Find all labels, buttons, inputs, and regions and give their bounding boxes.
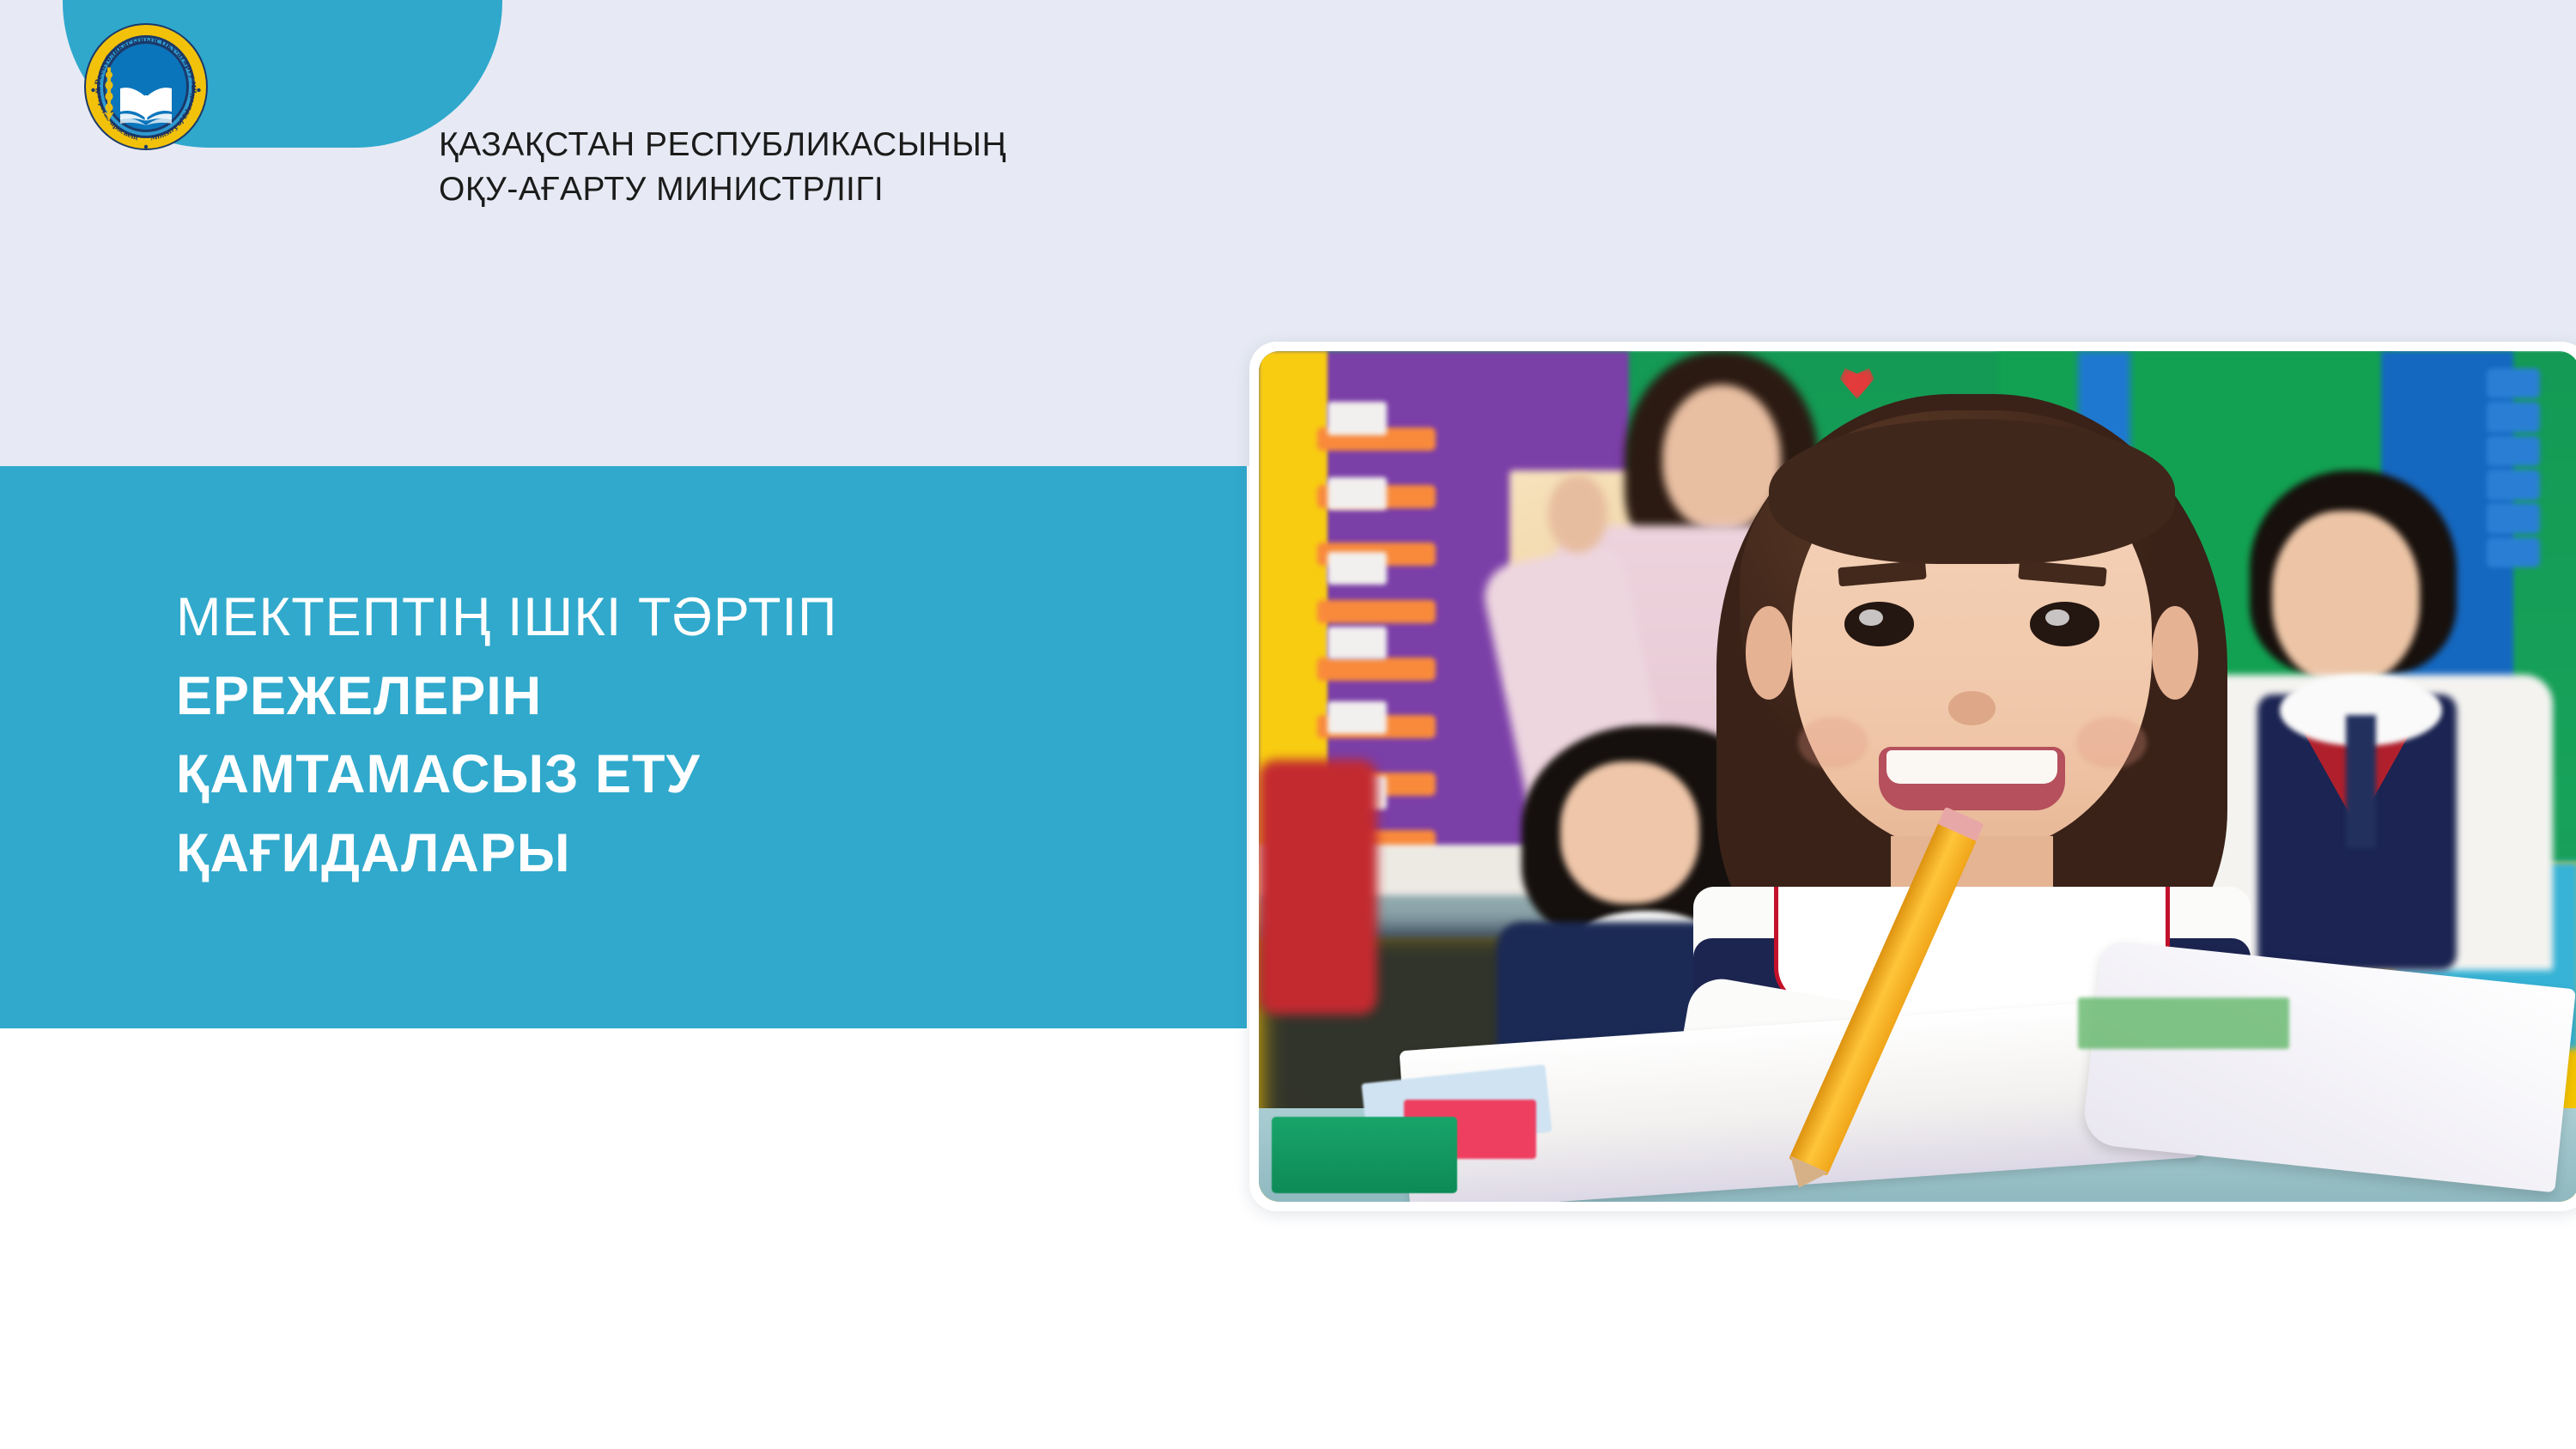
student-eye-left xyxy=(1844,602,1914,646)
student-cheek-right xyxy=(2076,717,2146,767)
ministry-name: ҚАЗАҚСТАН РЕСПУБЛИКАСЫНЫҢ ОҚУ-АҒАРТУ МИН… xyxy=(439,123,1297,212)
student-smile xyxy=(1879,747,2065,810)
classmate-boy-face xyxy=(2272,511,2420,684)
textbook-green-page xyxy=(2078,997,2289,1048)
student-fringe xyxy=(1769,419,2176,563)
title-line-4: ҚАҒИДАЛАРЫ xyxy=(176,822,1189,886)
student-ear-left xyxy=(1746,606,1792,700)
title-line-2: ЕРЕЖЕЛЕРІН xyxy=(176,665,1189,729)
title-line-3: ҚАМТАМАСЫЗ ЕТУ xyxy=(176,743,1189,807)
student-nose xyxy=(1948,691,1995,725)
classroom-photo xyxy=(1259,351,2576,1202)
ministry-emblem-icon: Қазақстан Республикасының Оқу-ағарту мин… xyxy=(82,23,210,150)
title-line-1: МЕКТЕПТІҢ ІШКІ ТӘРТІП xyxy=(176,586,1189,650)
slide-canvas: Қазақстан Республикасының Оқу-ағарту мин… xyxy=(0,0,2576,1449)
ministry-name-line2: ОҚУ-АҒАРТУ МИНИСТРЛІГІ xyxy=(439,167,1297,212)
classmate-boy-tie xyxy=(2346,715,2375,848)
classmate-in-red xyxy=(1259,760,1377,1015)
slide-title: МЕКТЕПТІҢ ІШКІ ТӘРТІП ЕРЕЖЕЛЕРІН ҚАМТАМА… xyxy=(176,586,1189,901)
classmate-girl-face xyxy=(1560,761,1699,904)
student-teeth xyxy=(1886,750,2057,784)
classroom-photo-card xyxy=(1249,342,2576,1211)
ministry-name-line1: ҚАЗАҚСТАН РЕСПУБЛИКАСЫНЫҢ xyxy=(439,123,1297,167)
student-cheek-left xyxy=(1798,717,1868,767)
teacher-hand xyxy=(1548,475,1607,554)
green-book xyxy=(1272,1117,1456,1193)
student-eye-right xyxy=(2030,602,2099,646)
